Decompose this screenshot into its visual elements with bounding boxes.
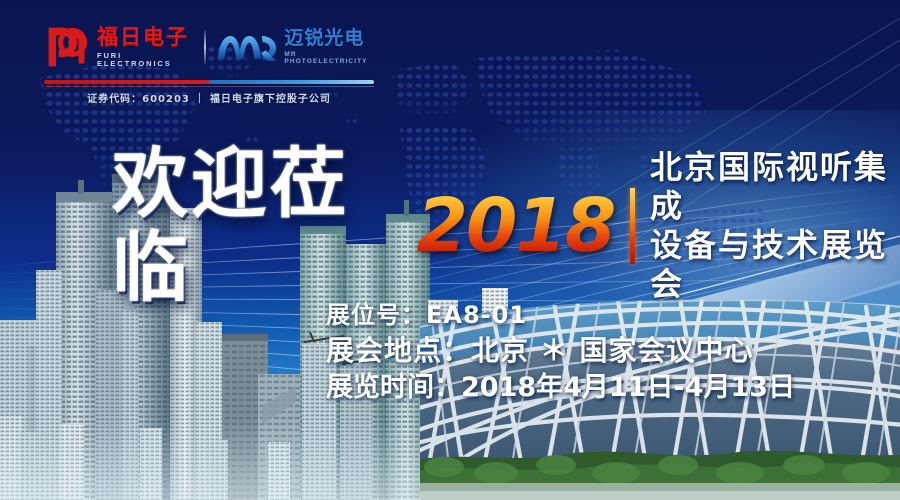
furi-logo: 福日电子 FURI ELECTRONICS bbox=[44, 24, 192, 70]
venue-line: 展会地点：北京 ＊ 国家会议中心 bbox=[326, 332, 795, 370]
mr-logo-text: 迈锐光电 MR PHOTOELECTRICITY bbox=[284, 29, 374, 65]
welcome-text: 欢迎莅临 bbox=[112, 142, 402, 310]
headline-block: 欢迎莅临 2018 北京国际视听集成 设备与技术展览会 bbox=[112, 142, 900, 310]
year-text: 2018 bbox=[416, 186, 614, 266]
furi-pd-monogram-icon bbox=[44, 24, 90, 70]
event-name-line1: 北京国际视听集成 bbox=[650, 148, 900, 226]
headline-divider bbox=[630, 188, 635, 264]
mr-logo: 迈锐光电 MR PHOTOELECTRICITY bbox=[216, 29, 374, 65]
logo-block: 福日电子 FURI ELECTRONICS bbox=[44, 18, 374, 76]
mr-en-name: MR PHOTOELECTRICITY bbox=[284, 52, 374, 65]
booth-number: 展位号：EA8-01 bbox=[326, 298, 795, 332]
header-rule-bar bbox=[44, 80, 374, 84]
event-info-block: 展位号：EA8-01 展会地点：北京 ＊ 国家会议中心 展览时间：2018年4月… bbox=[326, 298, 795, 406]
header-rule-thin bbox=[44, 86, 374, 87]
logo-row: 福日电子 FURI ELECTRONICS bbox=[44, 18, 374, 76]
furi-en-name: FURI ELECTRONICS bbox=[97, 52, 192, 67]
event-name-line2: 设备与技术展览会 bbox=[650, 226, 900, 304]
event-name-block: 北京国际视听集成 设备与技术展览会 bbox=[650, 148, 900, 304]
exhibition-banner: 福日电子 FURI ELECTRONICS bbox=[0, 0, 900, 500]
stock-code-line: 证券代码：600203 ｜ 福日电子旗下控股子公司 bbox=[44, 90, 374, 105]
furi-logo-text: 福日电子 FURI ELECTRONICS bbox=[97, 27, 192, 67]
furi-cn-name: 福日电子 bbox=[97, 27, 192, 48]
date-line: 展览时间：2018年4月11日-4月13日 bbox=[326, 370, 795, 406]
mr-wave-monogram-icon bbox=[216, 30, 278, 64]
logo-divider bbox=[204, 30, 206, 64]
mr-cn-name: 迈锐光电 bbox=[284, 29, 374, 48]
